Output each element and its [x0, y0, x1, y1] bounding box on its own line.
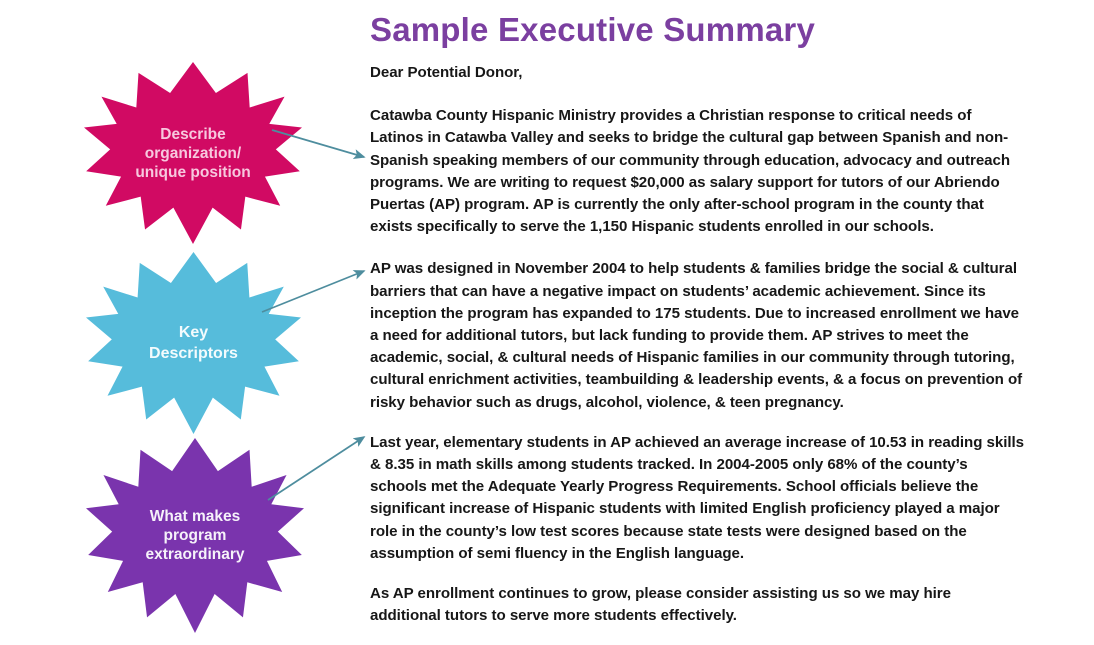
callout-star-extraordinary-label: What makes program extraordinary	[139, 507, 250, 564]
letter-paragraph-4: As AP enrollment continues to grow, plea…	[370, 583, 1025, 627]
callout-star-describe-label: Describe organization/ unique position	[129, 125, 256, 182]
connector-arrow-3	[268, 437, 364, 500]
callout-star-describe[interactable]: Describe organization/ unique position	[84, 62, 302, 244]
callout-star-extraordinary[interactable]: What makes program extraordinary	[86, 438, 304, 633]
executive-summary-page: Sample Executive Summary Describe organi…	[0, 0, 1094, 645]
letter-paragraph-3: Last year, elementary students in AP ach…	[370, 432, 1025, 565]
letter-paragraph-1: Catawba County Hispanic Ministry provide…	[370, 105, 1025, 238]
callout-star-key-descriptors[interactable]: Key Descriptors	[86, 252, 301, 434]
page-title: Sample Executive Summary	[370, 12, 1010, 48]
letter-salutation: Dear Potential Donor,	[370, 62, 1025, 84]
callout-star-key-descriptors-label: Key Descriptors	[143, 322, 244, 364]
letter-paragraph-2: AP was designed in November 2004 to help…	[370, 258, 1025, 413]
letter-body: Dear Potential Donor, Catawba County His…	[370, 62, 1025, 627]
